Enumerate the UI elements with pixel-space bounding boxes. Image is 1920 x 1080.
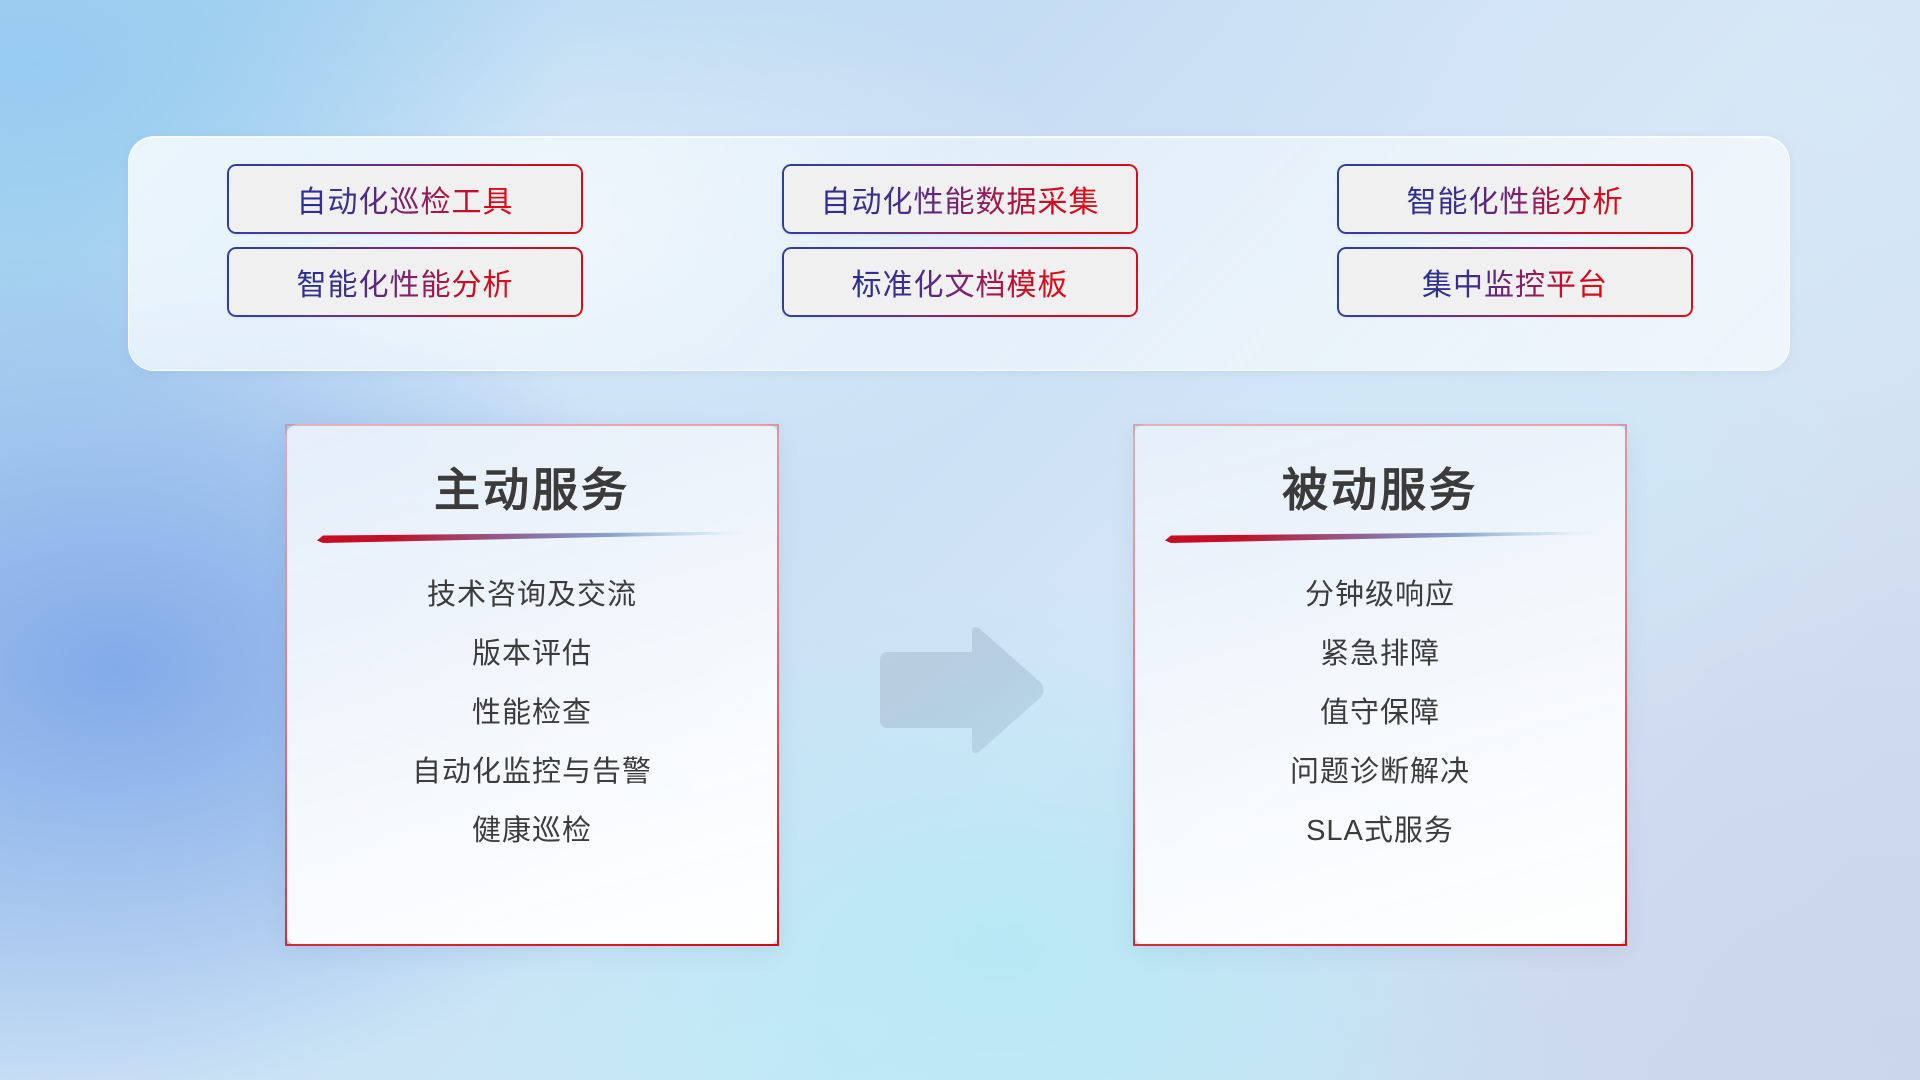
list-item: 性能检查	[472, 684, 592, 743]
tag-label: 标准化文档模板	[852, 260, 1069, 304]
list-item: 版本评估	[472, 625, 592, 684]
card-title-passive: 被动服务	[1135, 454, 1625, 520]
tag-label: 智能化性能分析	[1407, 177, 1624, 221]
tag-automated-inspection-tool[interactable]: 自动化巡检工具	[227, 164, 583, 234]
card-title-divider	[1165, 530, 1599, 544]
list-item: 值守保障	[1320, 684, 1440, 743]
service-list-passive: 分钟级响应 紧急排障 值守保障 问题诊断解决 SLA式服务	[1135, 566, 1625, 861]
list-item: 健康巡检	[472, 802, 592, 861]
tag-label: 集中监控平台	[1422, 260, 1608, 304]
service-card-active[interactable]: 主动服务 技术咨询及交流 版本评估 性能检查 自动化监控与告警 健康巡检	[285, 424, 779, 946]
tag-label: 自动化巡检工具	[297, 177, 514, 221]
list-item: 分钟级响应	[1305, 566, 1455, 625]
list-item: 自动化监控与告警	[412, 743, 652, 802]
card-title-divider	[317, 530, 751, 544]
card-title-active: 主动服务	[287, 454, 777, 520]
tag-automated-performance-collection[interactable]: 自动化性能数据采集	[782, 164, 1138, 234]
service-list-active: 技术咨询及交流 版本评估 性能检查 自动化监控与告警 健康巡检	[287, 566, 777, 861]
tag-intelligent-performance-analysis-2[interactable]: 智能化性能分析	[227, 247, 583, 317]
list-item: 问题诊断解决	[1290, 743, 1470, 802]
list-item: SLA式服务	[1306, 802, 1454, 861]
list-item: 紧急排障	[1320, 625, 1440, 684]
tag-label: 自动化性能数据采集	[821, 177, 1100, 221]
tag-standardized-doc-template[interactable]: 标准化文档模板	[782, 247, 1138, 317]
capabilities-panel: 自动化巡检工具 自动化性能数据采集 智能化性能分析 智能化性能分析 标准化文档模…	[128, 136, 1790, 371]
service-card-passive[interactable]: 被动服务 分钟级响应 紧急排障 值守保障 问题诊断解决 SLA式服务	[1133, 424, 1627, 946]
capability-tag-grid: 自动化巡检工具 自动化性能数据采集 智能化性能分析 智能化性能分析 标准化文档模…	[227, 164, 1693, 317]
list-item: 技术咨询及交流	[427, 566, 637, 625]
tag-label: 智能化性能分析	[297, 260, 514, 304]
arrow-right-icon	[872, 624, 1047, 756]
tag-centralized-monitoring-platform[interactable]: 集中监控平台	[1337, 247, 1693, 317]
tag-intelligent-performance-analysis[interactable]: 智能化性能分析	[1337, 164, 1693, 234]
